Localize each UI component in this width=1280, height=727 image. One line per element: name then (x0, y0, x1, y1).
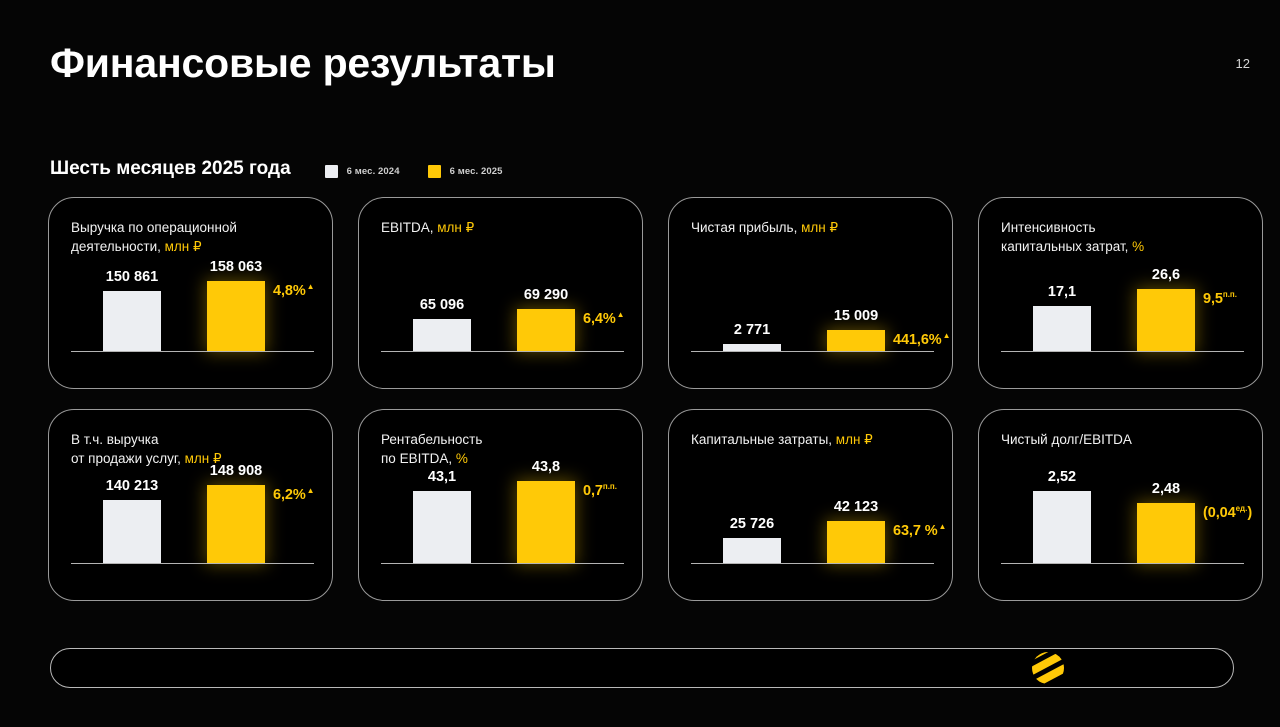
metric-bar-chart: 17,126,69,5п.п. (1001, 232, 1244, 352)
bar-value-label: 158 063 (210, 259, 262, 275)
legend-swatch-prev-icon (325, 165, 338, 178)
bar-2024: 25 726 (723, 538, 781, 563)
delta-up-arrow-icon: ▲ (939, 522, 947, 531)
delta-close-paren: ) (1247, 505, 1252, 521)
bar-value-label: 43,8 (532, 459, 560, 475)
metric-card: Чистый долг/EBITDA2,522,48(0,04ед.) (978, 409, 1263, 601)
bar-2024: 150 861 (103, 291, 161, 351)
bar-2025: 69 290 (517, 309, 575, 351)
chart-baseline (71, 563, 314, 564)
metric-card: В т.ч. выручкаот продажи услуг, млн ₽140… (48, 409, 333, 601)
bar-2025: 43,8 (517, 481, 575, 563)
delta-badge: 9,5п.п. (1203, 290, 1237, 307)
page-number: 12 (1236, 56, 1250, 71)
bar-value-label: 42 123 (834, 499, 878, 515)
metric-bar-chart: 2,522,48(0,04ед.) (1001, 444, 1244, 564)
bar-2025: 2,48 (1137, 503, 1195, 563)
bar-2025: 158 063 (207, 281, 265, 351)
bar-value-label: 2,48 (1152, 481, 1180, 497)
delta-up-arrow-icon: ▲ (307, 282, 315, 291)
bar-2024: 2 771 (723, 344, 781, 351)
delta-badge: 4,8%▲ (273, 282, 314, 299)
bar-value-label: 150 861 (106, 269, 158, 285)
bar-2024: 17,1 (1033, 306, 1091, 351)
chart-baseline (1001, 563, 1244, 564)
bar-2024: 140 213 (103, 500, 161, 563)
bar-value-label: 140 213 (106, 478, 158, 494)
page-title: Финансовые результаты (50, 40, 556, 87)
bar-2025: 15 009 (827, 330, 885, 351)
section-subtitle: Шесть месяцев 2025 года (50, 158, 291, 180)
bar-value-label: 2 771 (734, 322, 770, 338)
bar-2025: 148 908 (207, 485, 265, 563)
delta-suffix: ед. (1236, 504, 1248, 513)
delta-value: 441,6% (893, 332, 942, 348)
delta-suffix: п.п. (603, 482, 617, 491)
delta-value: 4,8% (273, 283, 306, 299)
bar-value-label: 2,52 (1048, 469, 1076, 485)
delta-badge: 0,7п.п. (583, 482, 617, 499)
bar-2025: 26,6 (1137, 289, 1195, 351)
bar-container: 140 213148 9086,2%▲ (71, 444, 314, 563)
delta-value: 0,7 (583, 483, 603, 499)
beeline-bee-logo-icon (1025, 645, 1071, 691)
metric-card: EBITDA, млн ₽65 09669 2906,4%▲ (358, 197, 643, 389)
metric-bar-chart: 43,143,80,7п.п. (381, 444, 624, 564)
bar-value-label: 148 908 (210, 463, 262, 479)
bar-container: 65 09669 2906,4%▲ (381, 232, 624, 351)
bar-2025: 42 123 (827, 521, 885, 563)
delta-value: 63,7 % (893, 523, 938, 539)
bar-value-label: 25 726 (730, 516, 774, 532)
legend-item-curr: 6 мес. 2025 (428, 165, 503, 178)
delta-badge: 6,4%▲ (583, 310, 624, 327)
bar-2024: 2,52 (1033, 491, 1091, 563)
bar-2024: 65 096 (413, 319, 471, 351)
chart-baseline (691, 563, 934, 564)
delta-badge: 63,7 %▲ (893, 522, 946, 539)
delta-suffix: п.п. (1223, 290, 1237, 299)
legend-label-prev: 6 мес. 2024 (347, 166, 400, 177)
bar-value-label: 26,6 (1152, 267, 1180, 283)
metric-card: Интенсивностькапитальных затрат, %17,126… (978, 197, 1263, 389)
delta-badge: 441,6%▲ (893, 331, 950, 348)
metric-card: Рентабельностьпо EBITDA, %43,143,80,7п.п… (358, 409, 643, 601)
bar-2024: 43,1 (413, 491, 471, 563)
delta-badge: (0,04ед.) (1203, 504, 1252, 521)
legend-label-curr: 6 мес. 2025 (450, 166, 503, 177)
chart-baseline (381, 563, 624, 564)
subtitle-row: Шесть месяцев 2025 года 6 мес. 2024 6 ме… (50, 158, 502, 180)
chart-baseline (1001, 351, 1244, 352)
metric-bar-chart: 25 72642 12363,7 %▲ (691, 444, 934, 564)
delta-up-arrow-icon: ▲ (307, 486, 315, 495)
delta-value: 9,5 (1203, 291, 1223, 307)
chart-baseline (691, 351, 934, 352)
delta-up-arrow-icon: ▲ (617, 310, 625, 319)
bar-value-label: 65 096 (420, 297, 464, 313)
bar-container: 17,126,69,5п.п. (1001, 232, 1244, 351)
chart-baseline (381, 351, 624, 352)
legend-item-prev: 6 мес. 2024 (325, 165, 400, 178)
bar-container: 150 861158 0634,8%▲ (71, 232, 314, 351)
metric-card-grid: Выручка по операционнойдеятельности, млн… (48, 197, 1234, 601)
delta-value: 6,2% (273, 487, 306, 503)
delta-value: (0,04 (1203, 505, 1236, 521)
bar-value-label: 43,1 (428, 469, 456, 485)
chart-legend: 6 мес. 2024 6 мес. 2025 (325, 161, 503, 178)
bar-container: 2,522,48(0,04ед.) (1001, 444, 1244, 563)
delta-value: 6,4% (583, 311, 616, 327)
metric-card: Чистая прибыль, млн ₽2 77115 009441,6%▲ (668, 197, 953, 389)
bar-value-label: 17,1 (1048, 284, 1076, 300)
metric-bar-chart: 2 77115 009441,6%▲ (691, 232, 934, 352)
delta-up-arrow-icon: ▲ (943, 331, 951, 340)
bar-container: 2 77115 009441,6%▲ (691, 232, 934, 351)
bar-value-label: 69 290 (524, 287, 568, 303)
metric-bar-chart: 150 861158 0634,8%▲ (71, 232, 314, 352)
chart-baseline (71, 351, 314, 352)
metric-card: Выручка по операционнойдеятельности, млн… (48, 197, 333, 389)
legend-swatch-curr-icon (428, 165, 441, 178)
metric-card: Капитальные затраты, млн ₽25 72642 12363… (668, 409, 953, 601)
slide-root: Финансовые результаты 12 Шесть месяцев 2… (0, 0, 1280, 727)
bar-container: 25 72642 12363,7 %▲ (691, 444, 934, 563)
bar-value-label: 15 009 (834, 308, 878, 324)
delta-badge: 6,2%▲ (273, 486, 314, 503)
bar-container: 43,143,80,7п.п. (381, 444, 624, 563)
metric-bar-chart: 140 213148 9086,2%▲ (71, 444, 314, 564)
metric-bar-chart: 65 09669 2906,4%▲ (381, 232, 624, 352)
